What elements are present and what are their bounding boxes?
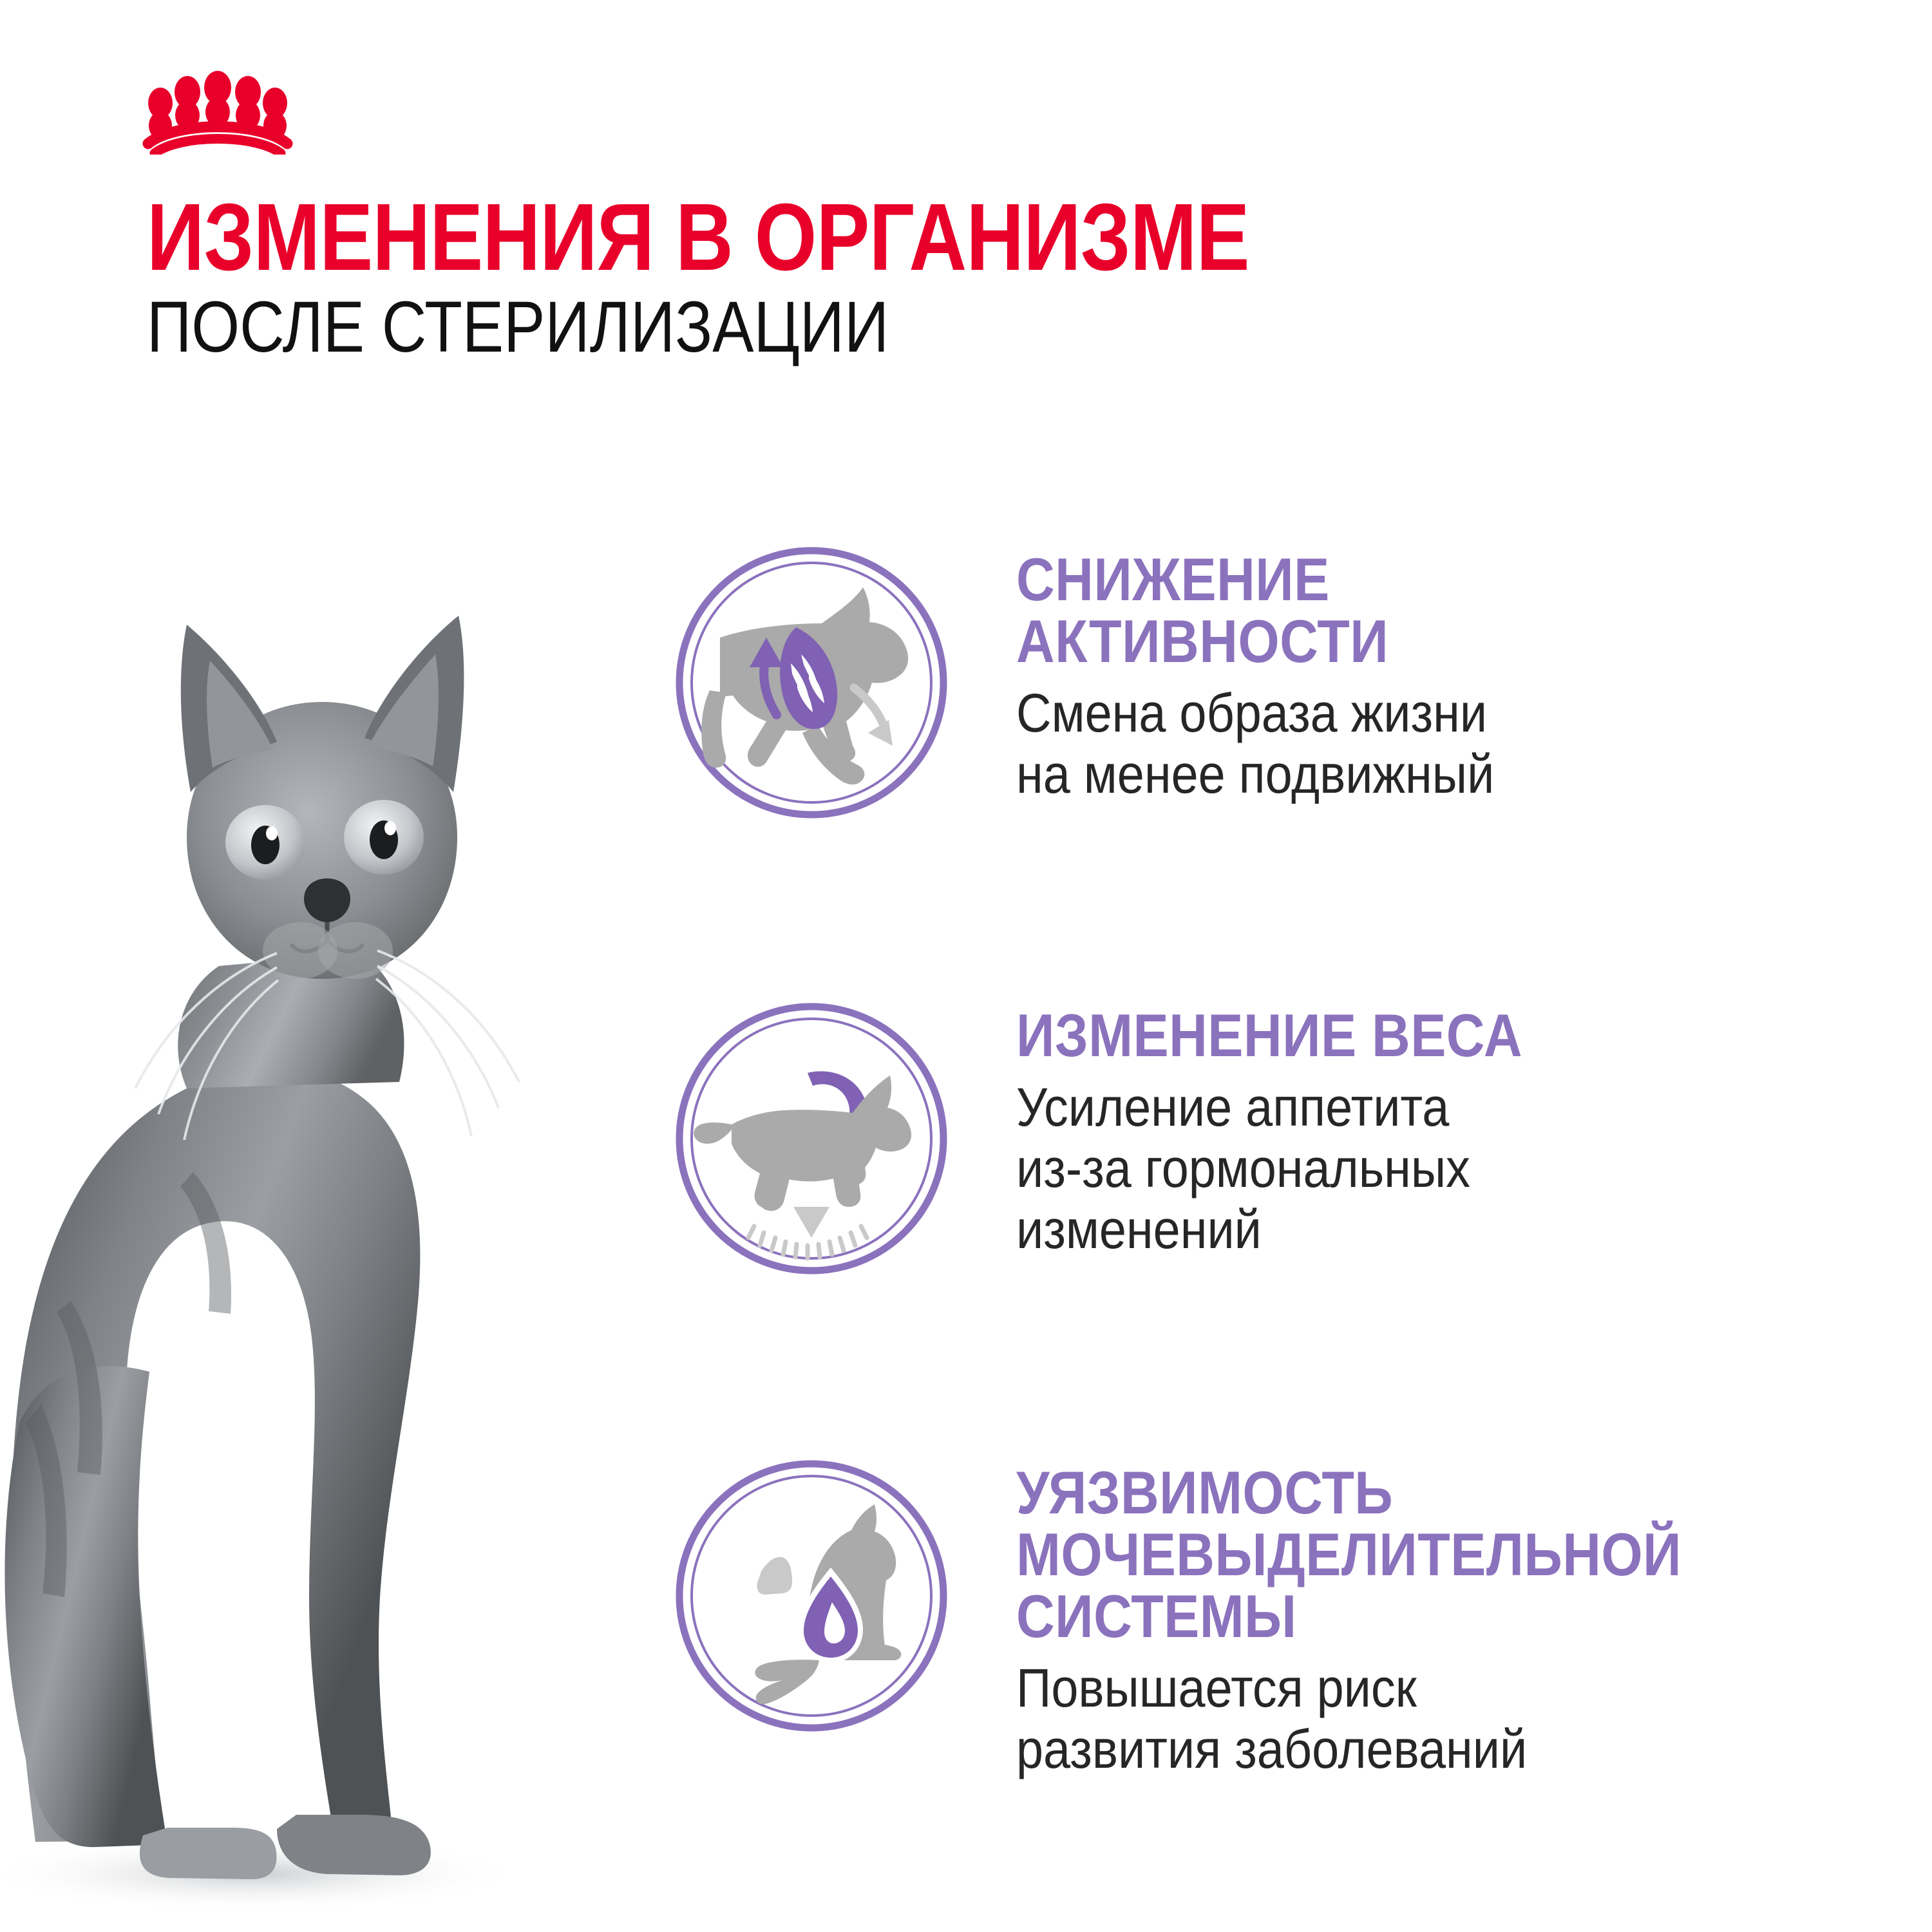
benefit-title: УЯЗВИМОСТЬ МОЧЕВЫДЕЛИТЕЛЬНОЙ СИСТЕМЫ	[1016, 1462, 1788, 1647]
benefit-title: ИЗМЕНЕНИЕ ВЕСА	[1016, 1005, 1788, 1066]
benefit-row-activity: СНИЖЕНИЕ АКТИВНОСТИ Смена образа жизни н…	[670, 541, 1893, 824]
page-title-block: ИЗМЕНЕНИЯ В ОРГАНИЗМЕ ПОСЛЕ СТЕРИЛИЗАЦИИ	[147, 193, 1757, 363]
cat-urinary-drop-icon	[670, 1454, 953, 1738]
cat-activity-decrease-icon	[670, 541, 953, 824]
benefit-text-activity: СНИЖЕНИЕ АКТИВНОСТИ Смена образа жизни н…	[953, 541, 1893, 805]
benefit-text-urinary: УЯЗВИМОСТЬ МОЧЕВЫДЕЛИТЕЛЬНОЙ СИСТЕМЫ Пов…	[953, 1454, 1893, 1779]
cat-weight-change-icon	[670, 997, 953, 1280]
poster-canvas: ИЗМЕНЕНИЯ В ОРГАНИЗМЕ ПОСЛЕ СТЕРИЛИЗАЦИИ	[0, 0, 1932, 1932]
page-title: ИЗМЕНЕНИЯ В ОРГАНИЗМЕ	[147, 193, 1499, 282]
benefit-body: Усиление аппетита из-за гормональных изм…	[1016, 1077, 1806, 1260]
benefit-body: Повышается риск развития заболеваний	[1016, 1658, 1806, 1780]
benefit-text-weight: ИЗМЕНЕНИЕ ВЕСА Усиление аппетита из-за г…	[953, 997, 1893, 1260]
benefit-body: Смена образа жизни на менее подвижный	[1016, 683, 1806, 805]
crown-logo-icon	[140, 71, 295, 155]
cat-photo	[0, 489, 696, 1932]
benefit-row-urinary: УЯЗВИМОСТЬ МОЧЕВЫДЕЛИТЕЛЬНОЙ СИСТЕМЫ Пов…	[670, 1454, 1893, 1779]
benefits-list: СНИЖЕНИЕ АКТИВНОСТИ Смена образа жизни н…	[670, 528, 1893, 1779]
benefit-title: СНИЖЕНИЕ АКТИВНОСТИ	[1016, 549, 1788, 672]
benefit-row-weight: ИЗМЕНЕНИЕ ВЕСА Усиление аппетита из-за г…	[670, 997, 1893, 1280]
page-subtitle: ПОСЛЕ СТЕРИЛИЗАЦИИ	[147, 291, 1531, 363]
